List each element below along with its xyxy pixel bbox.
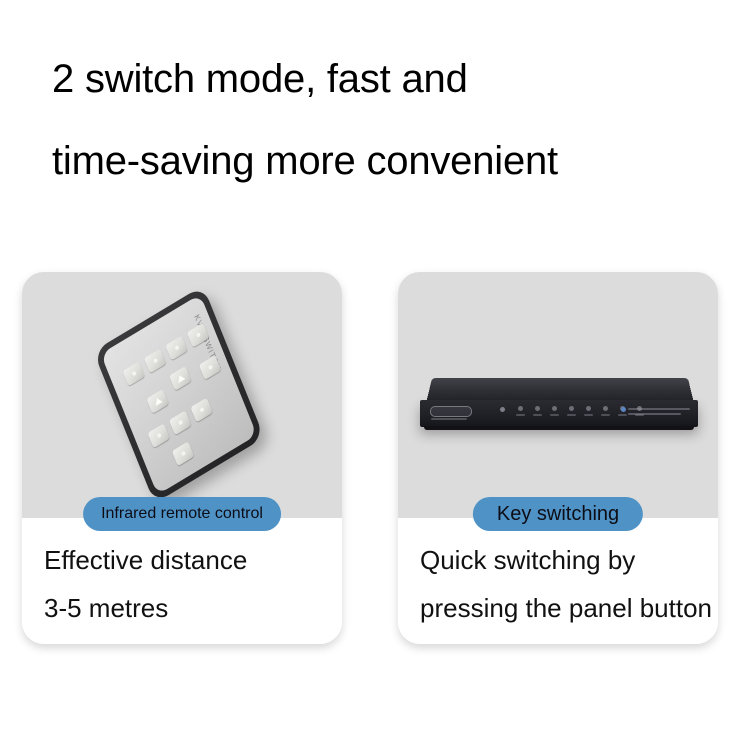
remote-button-1	[123, 361, 145, 386]
page-heading: 2 switch mode, fast and time-saving more…	[52, 38, 742, 202]
remote-shell: KVM SWITCH	[93, 285, 264, 503]
kvm-port-led	[552, 406, 557, 411]
remote-device: KVM SWITCH	[59, 272, 303, 518]
kvm-switch-illustration	[398, 272, 718, 518]
kvm-port-label	[516, 414, 525, 416]
kvm-base-edge	[424, 426, 694, 430]
kvm-brand-logo	[430, 406, 472, 417]
kvm-port-indicator	[550, 406, 559, 416]
kvm-port-indicator	[584, 406, 593, 416]
kvm-port-indicator	[533, 406, 542, 416]
kvm-logo-icon	[621, 407, 626, 412]
card-caption-line-2: pressing the panel button	[420, 584, 750, 632]
card-caption: Quick switching by pressing the panel bu…	[420, 536, 750, 632]
feature-card-row: KVM SWITCH	[0, 272, 750, 652]
remote-faceplate: KVM SWITCH	[101, 294, 257, 495]
feature-card-key-switching[interactable]: Key switching Quick switching by pressin…	[398, 272, 718, 644]
kvm-port-indicator	[516, 406, 525, 416]
kvm-port-led	[586, 406, 591, 411]
card-body: Quick switching by pressing the panel bu…	[398, 518, 718, 644]
remote-control-illustration: KVM SWITCH	[22, 272, 342, 518]
kvm-power-led	[500, 407, 505, 412]
kvm-model-label	[431, 418, 467, 420]
card-body: Effective distance 3-5 metres	[22, 518, 342, 644]
kvm-port-label	[533, 414, 542, 416]
kvm-panel-description-text	[628, 408, 690, 418]
card-photo-area: KVM SWITCH	[22, 272, 342, 518]
kvm-port-indicator	[601, 406, 610, 416]
kvm-port-led	[518, 406, 523, 411]
kvm-port-label	[618, 414, 627, 416]
card-caption: Effective distance 3-5 metres	[44, 536, 374, 632]
remote-button-3	[165, 336, 187, 361]
remote-button-2	[144, 348, 166, 373]
remote-button-left-arrow	[146, 389, 168, 414]
card-caption-line-2: 3-5 metres	[44, 584, 374, 632]
kvm-port-indicator	[567, 406, 576, 416]
card-badge-key-switching: Key switching	[473, 497, 643, 531]
kvm-port-label	[584, 414, 593, 416]
kvm-text-line	[628, 413, 681, 415]
card-caption-line-1: Effective distance	[44, 536, 374, 584]
remote-button-9	[172, 441, 194, 466]
remote-button-8	[190, 398, 212, 423]
kvm-port-led	[569, 406, 574, 411]
remote-button-up-arrow	[169, 366, 191, 391]
heading-line-2: time-saving more convenient	[52, 120, 742, 202]
kvm-port-led	[603, 406, 608, 411]
kvm-port-label	[567, 414, 576, 416]
kvm-front-panel	[420, 400, 698, 427]
card-badge-infrared-remote-control: Infrared remote control	[83, 497, 281, 531]
kvm-text-line	[628, 408, 690, 410]
card-caption-line-1: Quick switching by	[420, 536, 750, 584]
heading-line-1: 2 switch mode, fast and	[52, 38, 742, 120]
kvm-port-led	[535, 406, 540, 411]
remote-button-7	[169, 410, 191, 435]
card-photo-area	[398, 272, 718, 518]
feature-card-infrared-remote-control[interactable]: KVM SWITCH	[22, 272, 342, 644]
remote-button-6	[148, 423, 170, 448]
kvm-port-label	[550, 414, 559, 416]
kvm-port-label	[601, 414, 610, 416]
kvm-switch-device	[420, 372, 698, 438]
